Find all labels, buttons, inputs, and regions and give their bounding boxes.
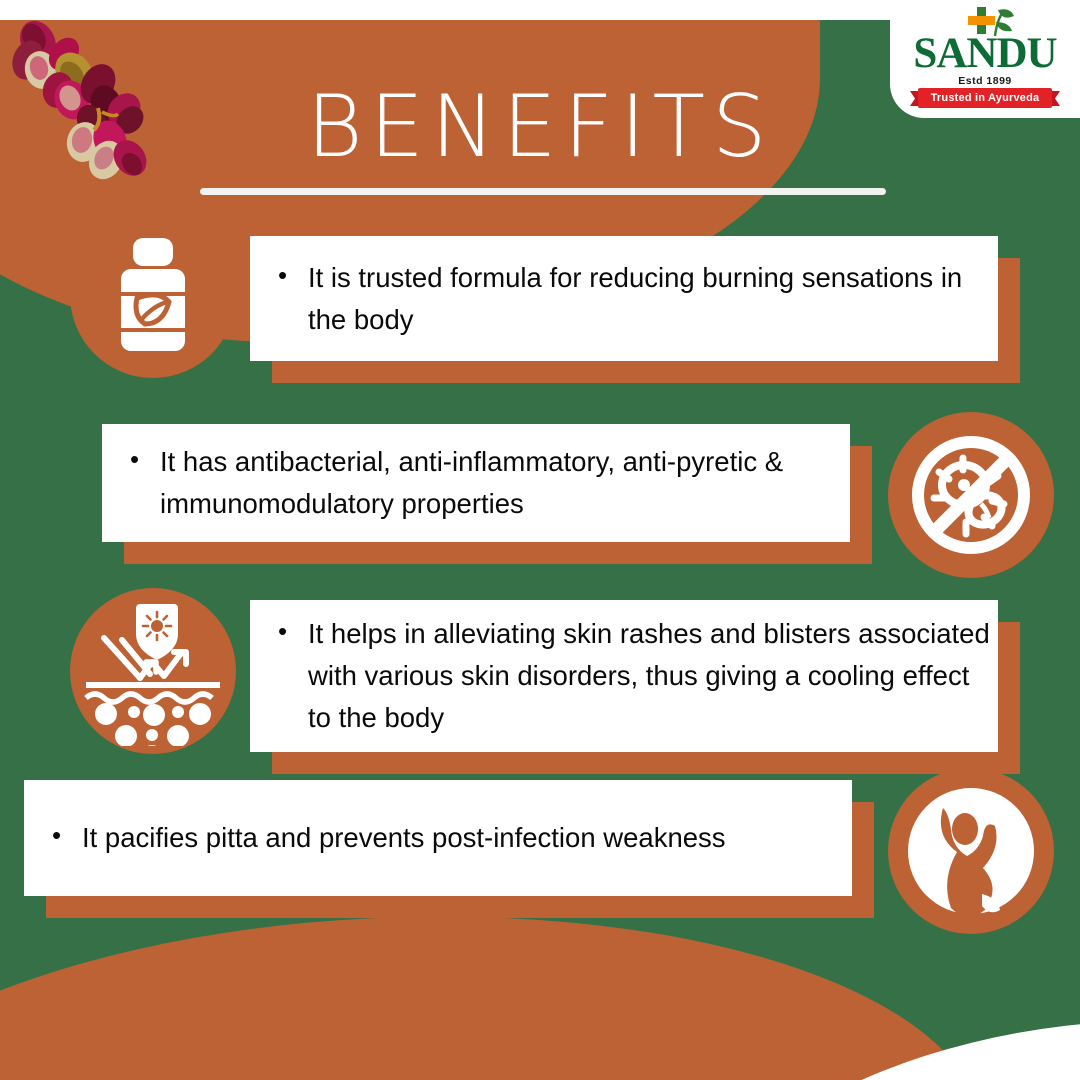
benefit-card-4: It pacifies pitta and prevents post-infe… bbox=[24, 780, 852, 896]
benefit-text-1: It is trusted formula for reducing burni… bbox=[274, 257, 998, 341]
benefit-text-4: It pacifies pitta and prevents post-infe… bbox=[48, 817, 726, 859]
benefit-text-3: It helps in alleviating skin rashes and … bbox=[274, 613, 998, 738]
plant-sprig-cross-icon bbox=[962, 6, 1018, 45]
benefit-card-1: It is trusted formula for reducing burni… bbox=[250, 236, 998, 361]
benefit-text-2: It has antibacterial, anti-inflammatory,… bbox=[126, 441, 850, 525]
medicine-bottle-leaf-icon bbox=[70, 212, 236, 378]
no-bacteria-icon bbox=[888, 412, 1054, 578]
benefit-card-2: It has antibacterial, anti-inflammatory,… bbox=[102, 424, 850, 542]
poster-canvas: SANDU Estd 1899 Trusted in Ayurveda BENE… bbox=[0, 0, 1080, 1080]
page-title: BENEFITS bbox=[0, 84, 1080, 170]
skin-protection-shield-icon bbox=[70, 588, 236, 754]
benefit-card-3: It helps in alleviating skin rashes and … bbox=[250, 600, 998, 752]
title-underline bbox=[200, 188, 886, 195]
wellness-person-icon bbox=[888, 768, 1054, 934]
